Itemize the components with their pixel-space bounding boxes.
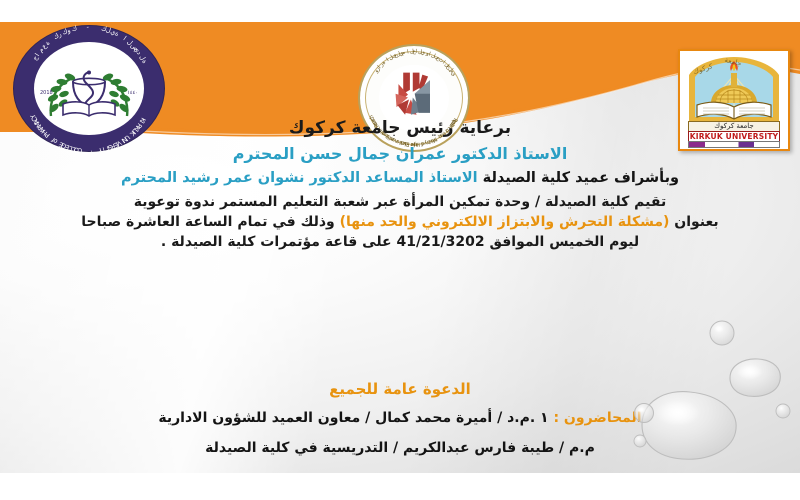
title-prefix: بعنوان [674, 214, 718, 230]
organizer-line: تقيم كلية الصيدلة / وحدة تمكين المرأة عب… [0, 194, 800, 210]
dean-supervision-line: وبأشراف عميد كلية الصيدلة الاستاذ المساع… [0, 170, 800, 186]
open-book-icon [61, 101, 117, 117]
dean-name: الاستاذ المساعد الدكتور نشوان عمر رشيد ا… [121, 170, 478, 186]
speakers-block: المحاضرون : ١ .م.د / أميرة محمد كمال / م… [0, 410, 800, 470]
speaker-name: ١ .م.د / أميرة محمد كمال / معاون العميد … [158, 410, 548, 426]
dean-supervision-prefix: وبأشراف عميد كلية الصيدلة [483, 170, 679, 186]
date-and-venue-line: ليوم الخميس الموافق 2023/12/14 على قاعة … [0, 234, 800, 250]
time-suffix: وذلك في تمام الساعة العاشرة صباحا [81, 214, 334, 230]
seminar-topic: (مشكلة التحرش والابتزاز الالكتروني والحد… [340, 214, 670, 230]
slide-canvas: جامعة كركوك - كلية الصيدلةKIRKUK UNIVERS… [0, 22, 800, 473]
speakers-label: المحاضرون : [553, 410, 641, 426]
seminar-title-line: بعنوان (مشكلة التحرش والابتزاز الالكترون… [0, 214, 800, 230]
university-president-name: الاستاذ الدكتور عمران جمال حسن المحترم [0, 144, 800, 163]
speaker-row: المحاضرون : ١ .م.د / أميرة محمد كمال / م… [0, 410, 800, 426]
seal-year-right: ١٤٤٠ [127, 90, 138, 96]
speaker-row: م.م / طيبة فارس عبدالكريم / التدريسية في… [0, 440, 800, 456]
seal-year-left: 2018 [40, 90, 53, 96]
speaker-name: م.م / طيبة فارس عبدالكريم / التدريسية في… [205, 440, 595, 456]
general-invitation-text: الدعوة عامة للجميع [0, 380, 800, 398]
patronage-line: برعاية رئيس جامعة كركوك [0, 118, 800, 138]
kirkuk-dome-shield-icon: كركوك جامعة [687, 55, 781, 123]
announcement-text-block: برعاية رئيس جامعة كركوك الاستاذ الدكتور … [0, 118, 800, 250]
